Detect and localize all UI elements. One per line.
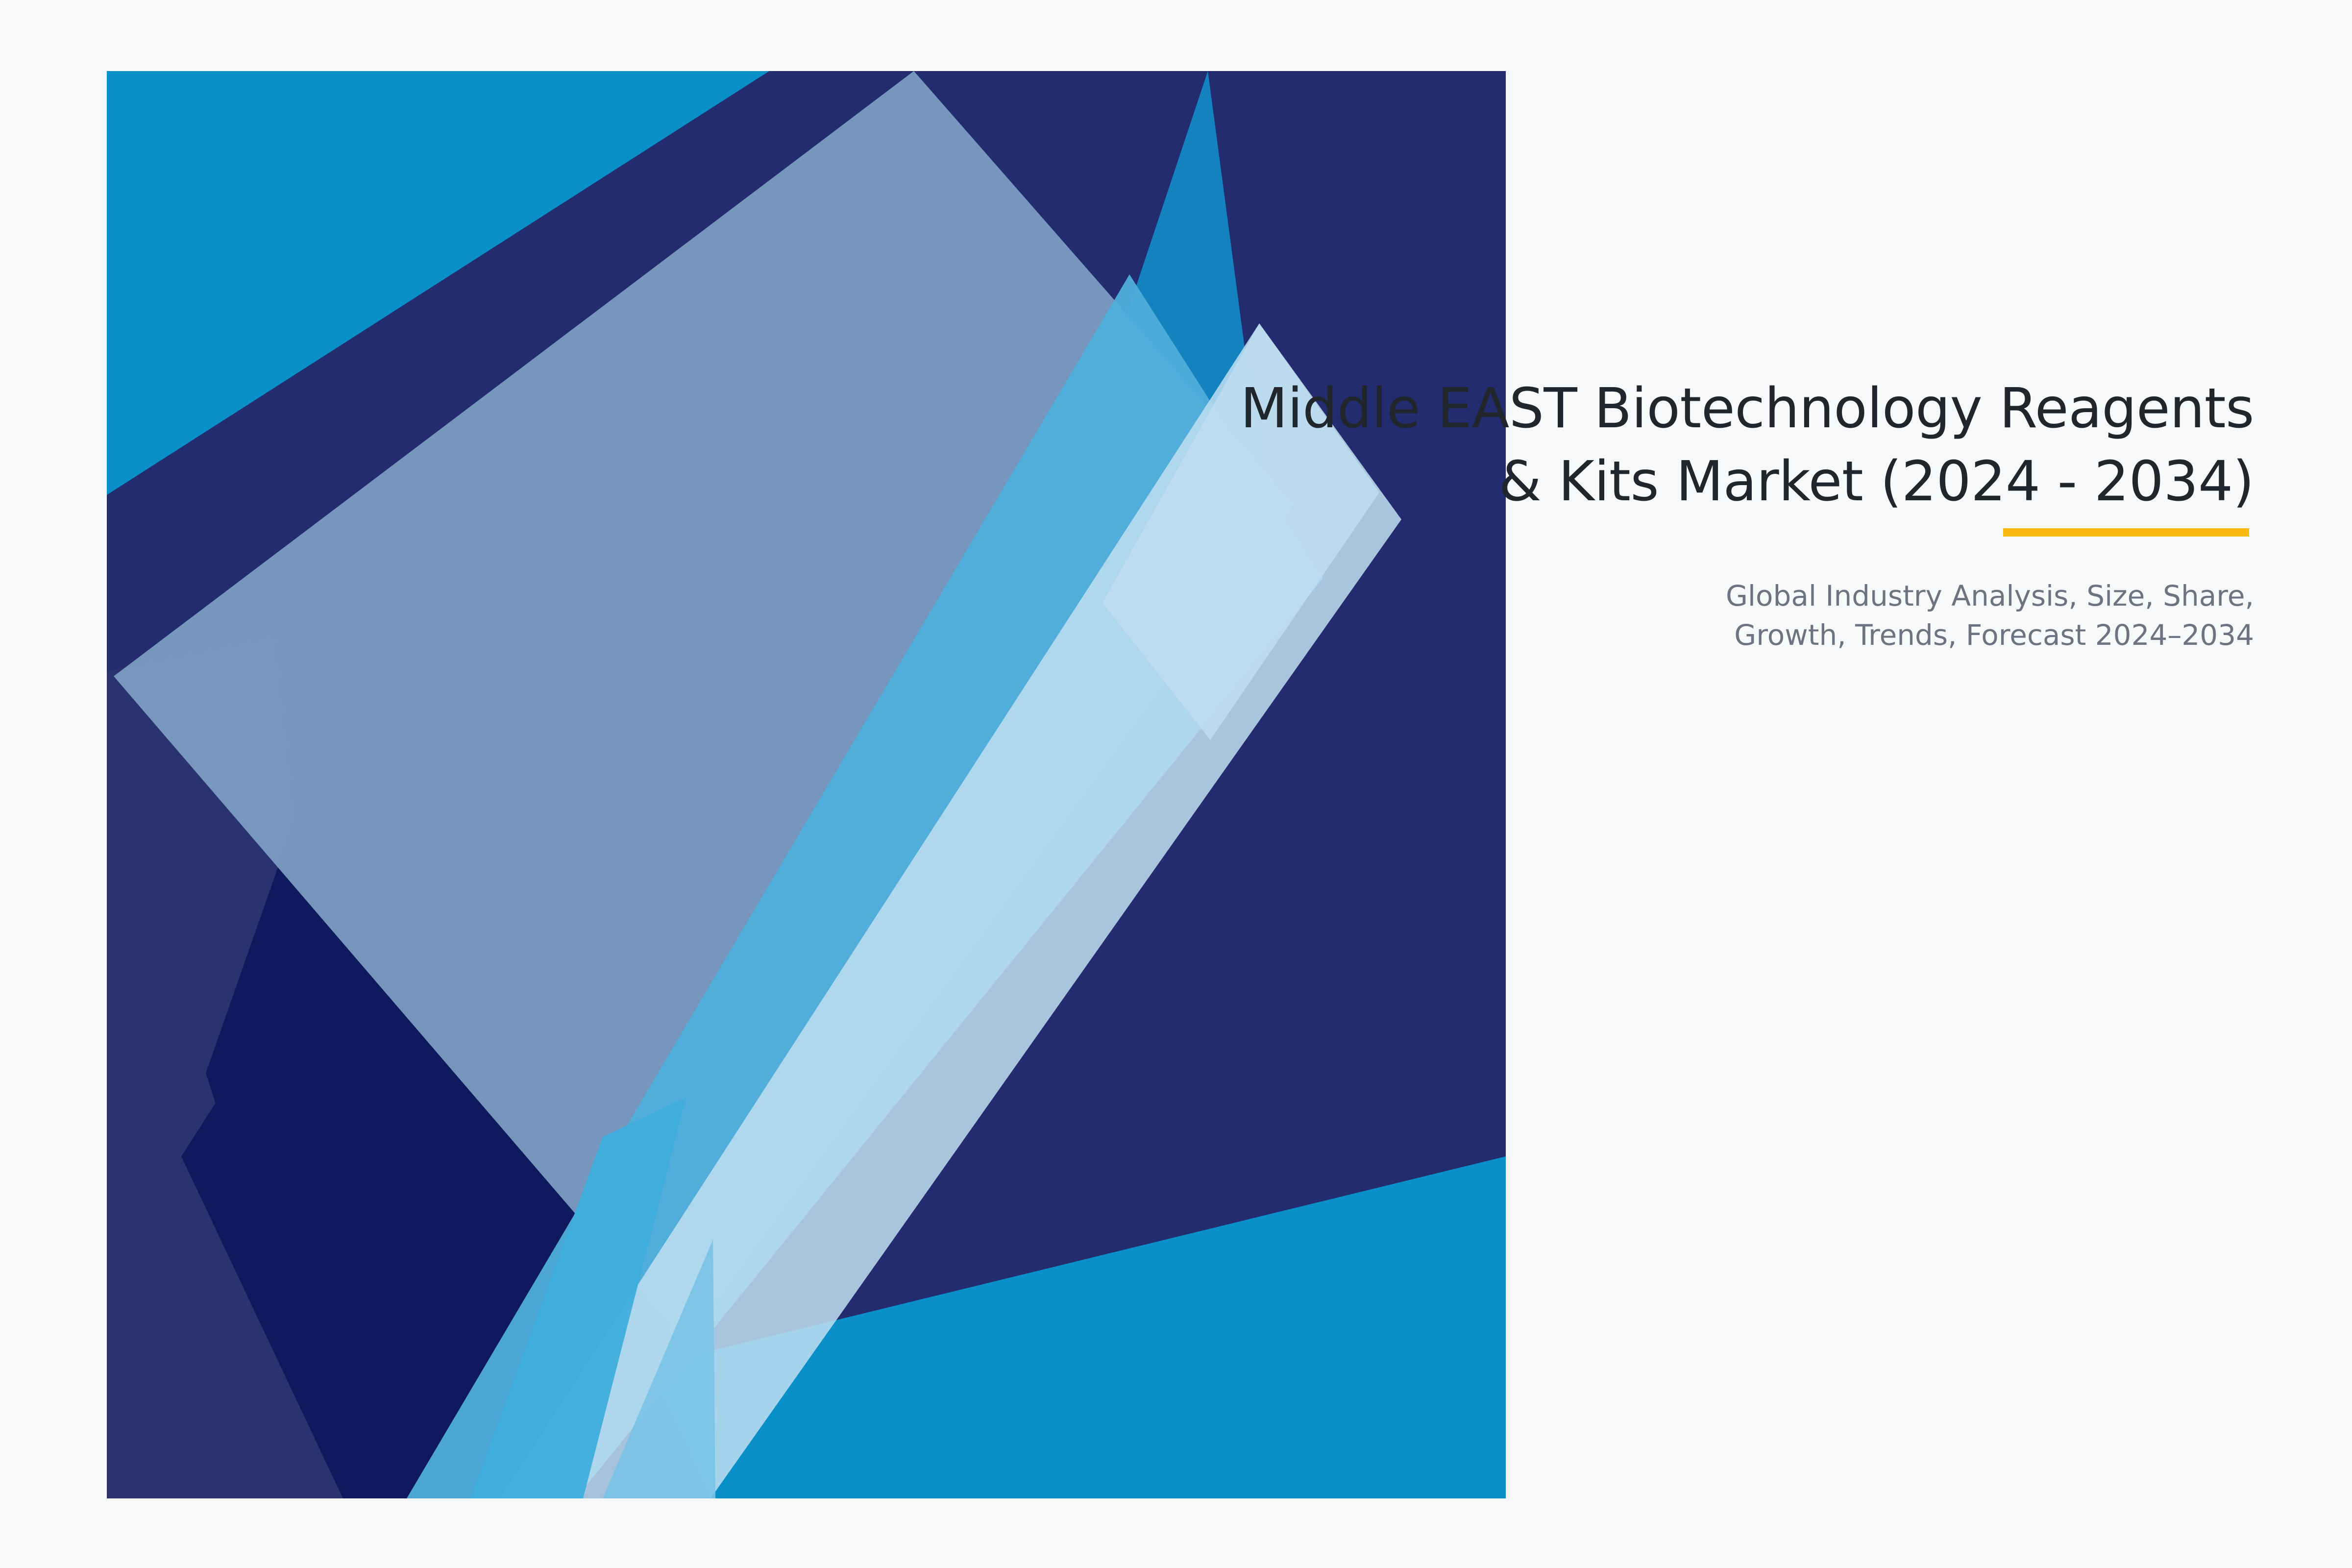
title-accent-bar [2003, 528, 2249, 537]
shape-navy-left-band [107, 637, 372, 1498]
shape-navy-deep-v [206, 696, 710, 1498]
cover-text-block: Middle EAST Biotechnology Reagents & Kit… [833, 372, 2254, 655]
page-subtitle: Global Industry Analysis, Size, Share, G… [833, 576, 2254, 655]
shape-navy-upper [107, 71, 1506, 1498]
shape-light-sliver [603, 1240, 715, 1498]
shape-steel-quad [114, 71, 1294, 1343]
shape-navy-deep-block [181, 1034, 568, 1498]
abstract-geometric-artwork [0, 0, 2352, 1568]
report-cover: Middle EAST Biotechnology Reagents & Kit… [0, 0, 2352, 1568]
shape-mid-chevron [470, 1098, 686, 1498]
page-title: Middle EAST Biotechnology Reagents & Kit… [833, 372, 2254, 518]
shape-cyan-base [107, 71, 1506, 1498]
